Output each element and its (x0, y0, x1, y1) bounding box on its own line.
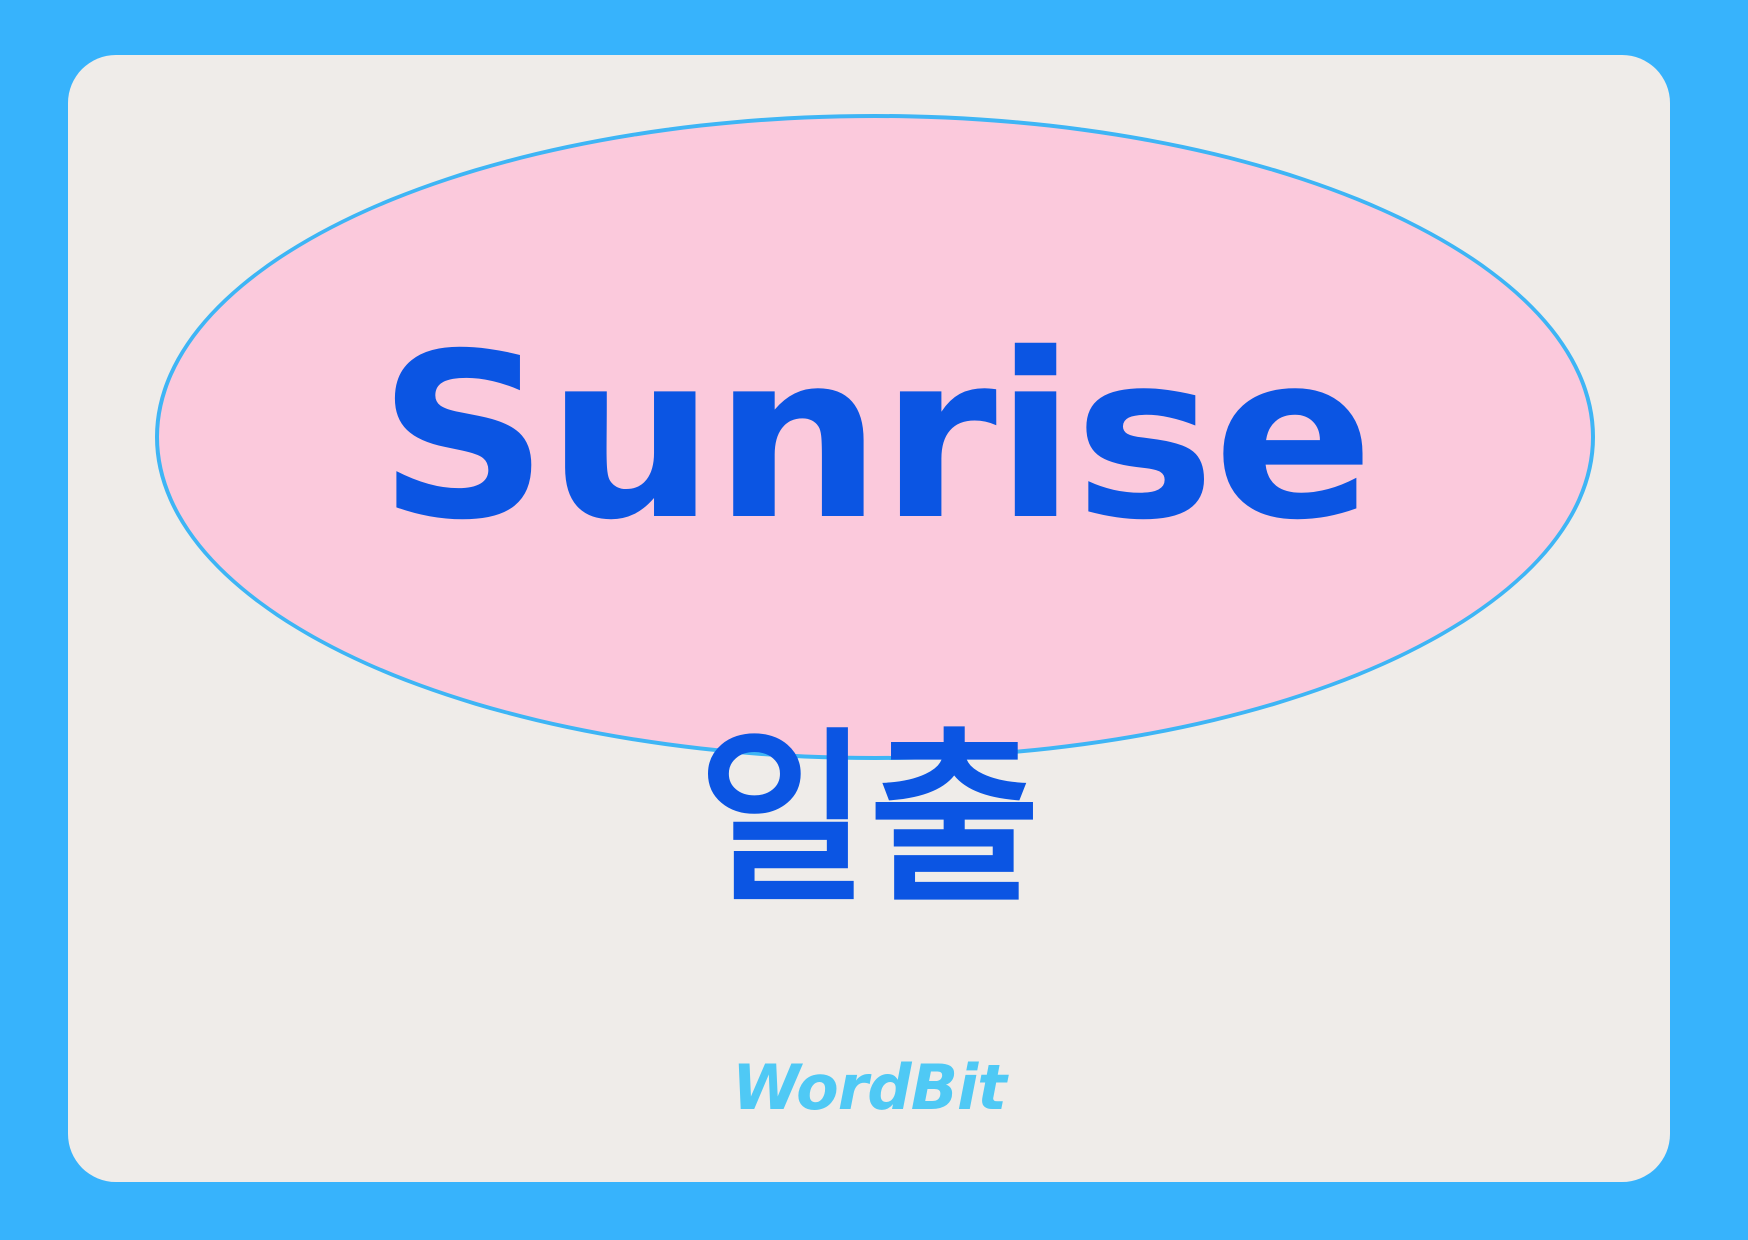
word-highlight-ellipse: Sunrise (155, 114, 1595, 760)
flashcard-surface[interactable]: Sunrise 일출 WordBit (68, 55, 1670, 1182)
flashcard-root: Sunrise 일출 WordBit (0, 0, 1748, 1240)
translation-word-text: 일출 (68, 727, 1670, 913)
wordbit-brand-logo: WordBit (68, 1057, 1670, 1119)
primary-word-text: Sunrise (378, 323, 1372, 551)
